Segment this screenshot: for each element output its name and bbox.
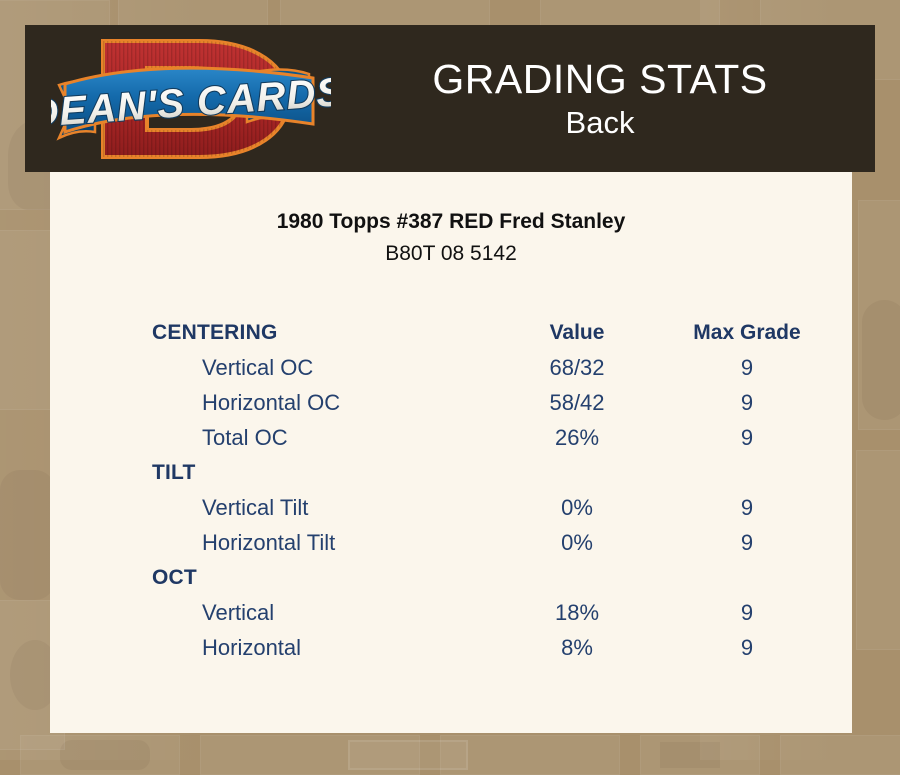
table-row: Total OC 26% 9 bbox=[152, 420, 832, 455]
row-label: Vertical OC bbox=[202, 350, 313, 385]
row-value: 26% bbox=[507, 420, 647, 455]
table-row: Horizontal OC 58/42 9 bbox=[152, 385, 832, 420]
row-label: Vertical bbox=[202, 595, 274, 630]
row-label: Horizontal bbox=[202, 630, 301, 665]
row-value: 0% bbox=[507, 490, 647, 525]
grading-stats-table: CENTERING Value Max Grade Vertical OC 68… bbox=[152, 315, 832, 665]
row-label: Horizontal Tilt bbox=[202, 525, 335, 560]
column-header-value: Value bbox=[507, 315, 647, 350]
row-value: 0% bbox=[507, 525, 647, 560]
section-label-centering: CENTERING bbox=[152, 315, 277, 350]
row-grade: 9 bbox=[677, 595, 817, 630]
row-grade: 9 bbox=[677, 630, 817, 665]
table-row: Horizontal 8% 9 bbox=[152, 630, 832, 665]
row-label: Horizontal OC bbox=[202, 385, 340, 420]
table-row: Horizontal Tilt 0% 9 bbox=[152, 525, 832, 560]
row-label: Vertical Tilt bbox=[202, 490, 308, 525]
row-grade: 9 bbox=[677, 385, 817, 420]
card-serial: B80T 08 5142 bbox=[50, 240, 852, 268]
header-bar: DEAN'S CARDS GRADING STATS Back bbox=[25, 25, 875, 172]
content-panel: 1980 Topps #387 RED Fred Stanley B80T 08… bbox=[50, 172, 852, 733]
column-header-max-grade: Max Grade bbox=[677, 315, 817, 350]
table-row: Vertical 18% 9 bbox=[152, 595, 832, 630]
row-grade: 9 bbox=[677, 350, 817, 385]
section-header-centering: CENTERING Value Max Grade bbox=[152, 315, 832, 350]
row-label: Total OC bbox=[202, 420, 288, 455]
header-title-group: GRADING STATS Back bbox=[325, 25, 875, 172]
page-subtitle: Back bbox=[566, 105, 635, 141]
table-row: Vertical Tilt 0% 9 bbox=[152, 490, 832, 525]
row-value: 8% bbox=[507, 630, 647, 665]
section-label-oct: OCT bbox=[152, 560, 197, 595]
section-label-tilt: TILT bbox=[152, 455, 196, 490]
row-grade: 9 bbox=[677, 525, 817, 560]
table-row: Vertical OC 68/32 9 bbox=[152, 350, 832, 385]
row-value: 58/42 bbox=[507, 385, 647, 420]
row-value: 68/32 bbox=[507, 350, 647, 385]
card-title: 1980 Topps #387 RED Fred Stanley bbox=[50, 208, 852, 235]
section-header-tilt: TILT bbox=[152, 455, 832, 490]
row-grade: 9 bbox=[677, 490, 817, 525]
section-header-oct: OCT bbox=[152, 560, 832, 595]
row-value: 18% bbox=[507, 595, 647, 630]
deans-cards-logo[interactable]: DEAN'S CARDS bbox=[51, 28, 331, 170]
page-title: GRADING STATS bbox=[432, 57, 767, 103]
row-grade: 9 bbox=[677, 420, 817, 455]
card-title-block: 1980 Topps #387 RED Fred Stanley B80T 08… bbox=[50, 208, 852, 269]
